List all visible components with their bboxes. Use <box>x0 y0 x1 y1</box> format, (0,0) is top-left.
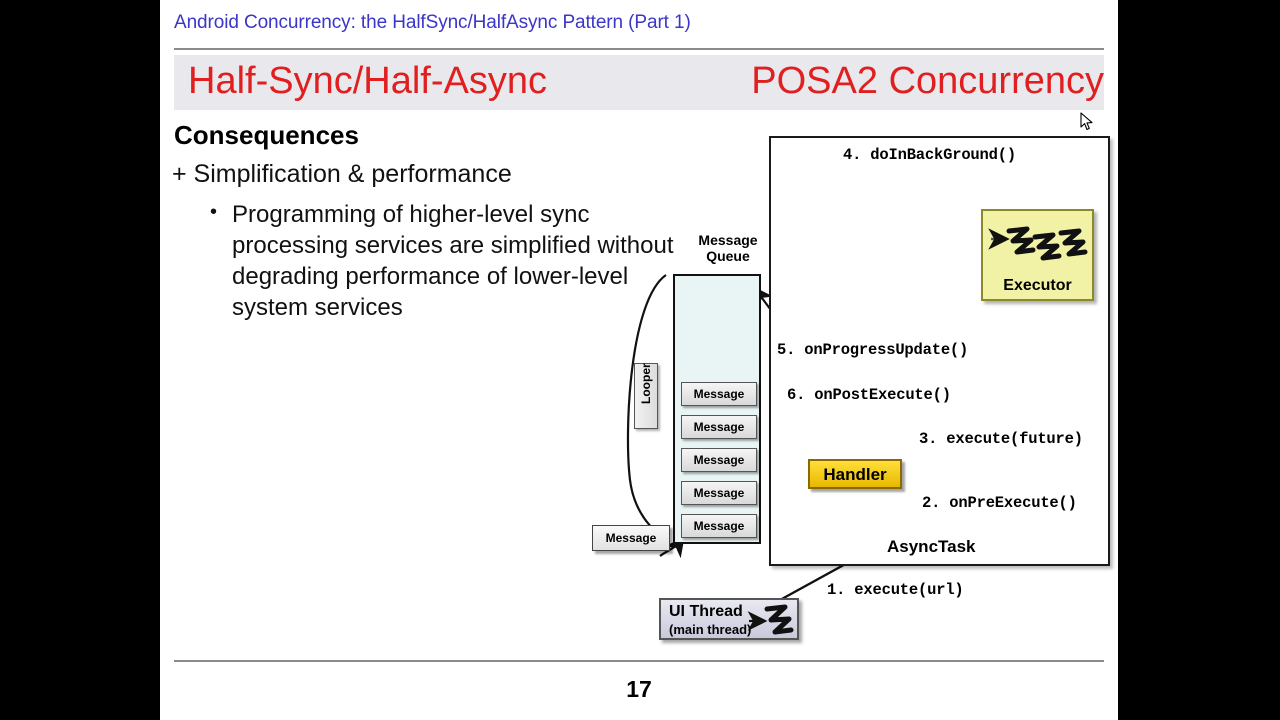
message-queue-label-line1: Message <box>673 232 783 248</box>
enqueue-arrow <box>660 540 682 556</box>
executor-to-progress-line <box>912 255 978 335</box>
asynctask-frame <box>769 136 1110 566</box>
step-5-label: 5. onProgressUpdate() <box>777 341 968 359</box>
queue-message-5: Message <box>681 514 757 538</box>
main-thread-label: (main thread) <box>669 622 751 637</box>
step-1-label: 1. execute(url) <box>827 581 964 599</box>
slide-subtitle: POSA2 Concurrency <box>751 60 1104 103</box>
execute-url-arrow <box>780 545 880 600</box>
executor-label: Executor <box>983 277 1092 295</box>
slide-page: Android Concurrency: the HalfSync/HalfAs… <box>160 0 1118 720</box>
step-6-label: 6. onPostExecute() <box>787 386 951 404</box>
step-4-label: 4. doInBackGround() <box>843 146 1016 164</box>
header-divider <box>174 48 1104 50</box>
plus-bullet-line: + Simplification & performance <box>172 160 512 189</box>
asynctask-label: AsyncTask <box>887 537 976 557</box>
bullet-marker: • <box>210 200 217 226</box>
onpostexecute-to-handler-arrow <box>820 406 846 456</box>
footer-divider <box>174 660 1104 662</box>
ui-thread-label: UI Thread <box>669 603 743 621</box>
bullet-item: • Programming of higher-level sync proce… <box>210 200 680 324</box>
course-title: Android Concurrency: the HalfSync/HalfAs… <box>174 12 691 34</box>
message-queue-label: Message Queue <box>673 232 783 264</box>
step-3-label: 3. execute(future) <box>919 430 1083 448</box>
step3-tick <box>1009 432 1024 470</box>
handler-box: Handler <box>808 459 902 489</box>
bullet-text: Programming of higher-level sync process… <box>232 200 680 324</box>
message-queue: Message Message Message Message Message <box>673 274 761 544</box>
queue-message-1: Message <box>681 382 757 406</box>
looper-box: Looper <box>634 363 658 429</box>
thread-squiggle-icon <box>745 601 795 641</box>
queue-message-4: Message <box>681 481 757 505</box>
threads-squiggle-icon <box>983 213 1096 279</box>
onprogressupdate-to-handler-arrow <box>860 406 882 456</box>
progress-update-arrow <box>756 290 806 357</box>
section-heading: Consequences <box>174 120 359 151</box>
ui-thread-box: UI Thread (main thread) <box>659 598 799 640</box>
message-queue-label-line2: Queue <box>673 248 783 264</box>
step2-tick <box>970 497 984 532</box>
mouse-pointer-icon <box>1080 112 1094 132</box>
incoming-message-box: Message <box>592 525 670 551</box>
executor-box: Executor <box>981 209 1094 301</box>
step-2-label: 2. onPreExecute() <box>922 494 1077 512</box>
slide-title: Half-Sync/Half-Async <box>188 60 547 103</box>
looper-label: Looper <box>639 382 653 404</box>
queue-message-3: Message <box>681 448 757 472</box>
queue-message-2: Message <box>681 415 757 439</box>
slide-banner: Half-Sync/Half-Async POSA2 Concurrency <box>174 55 1104 110</box>
page-number: 17 <box>160 676 1118 703</box>
doinbackground-loop <box>996 175 1075 209</box>
execute-future-arrow <box>1060 302 1100 420</box>
screen: Android Concurrency: the HalfSync/HalfAs… <box>0 0 1280 720</box>
